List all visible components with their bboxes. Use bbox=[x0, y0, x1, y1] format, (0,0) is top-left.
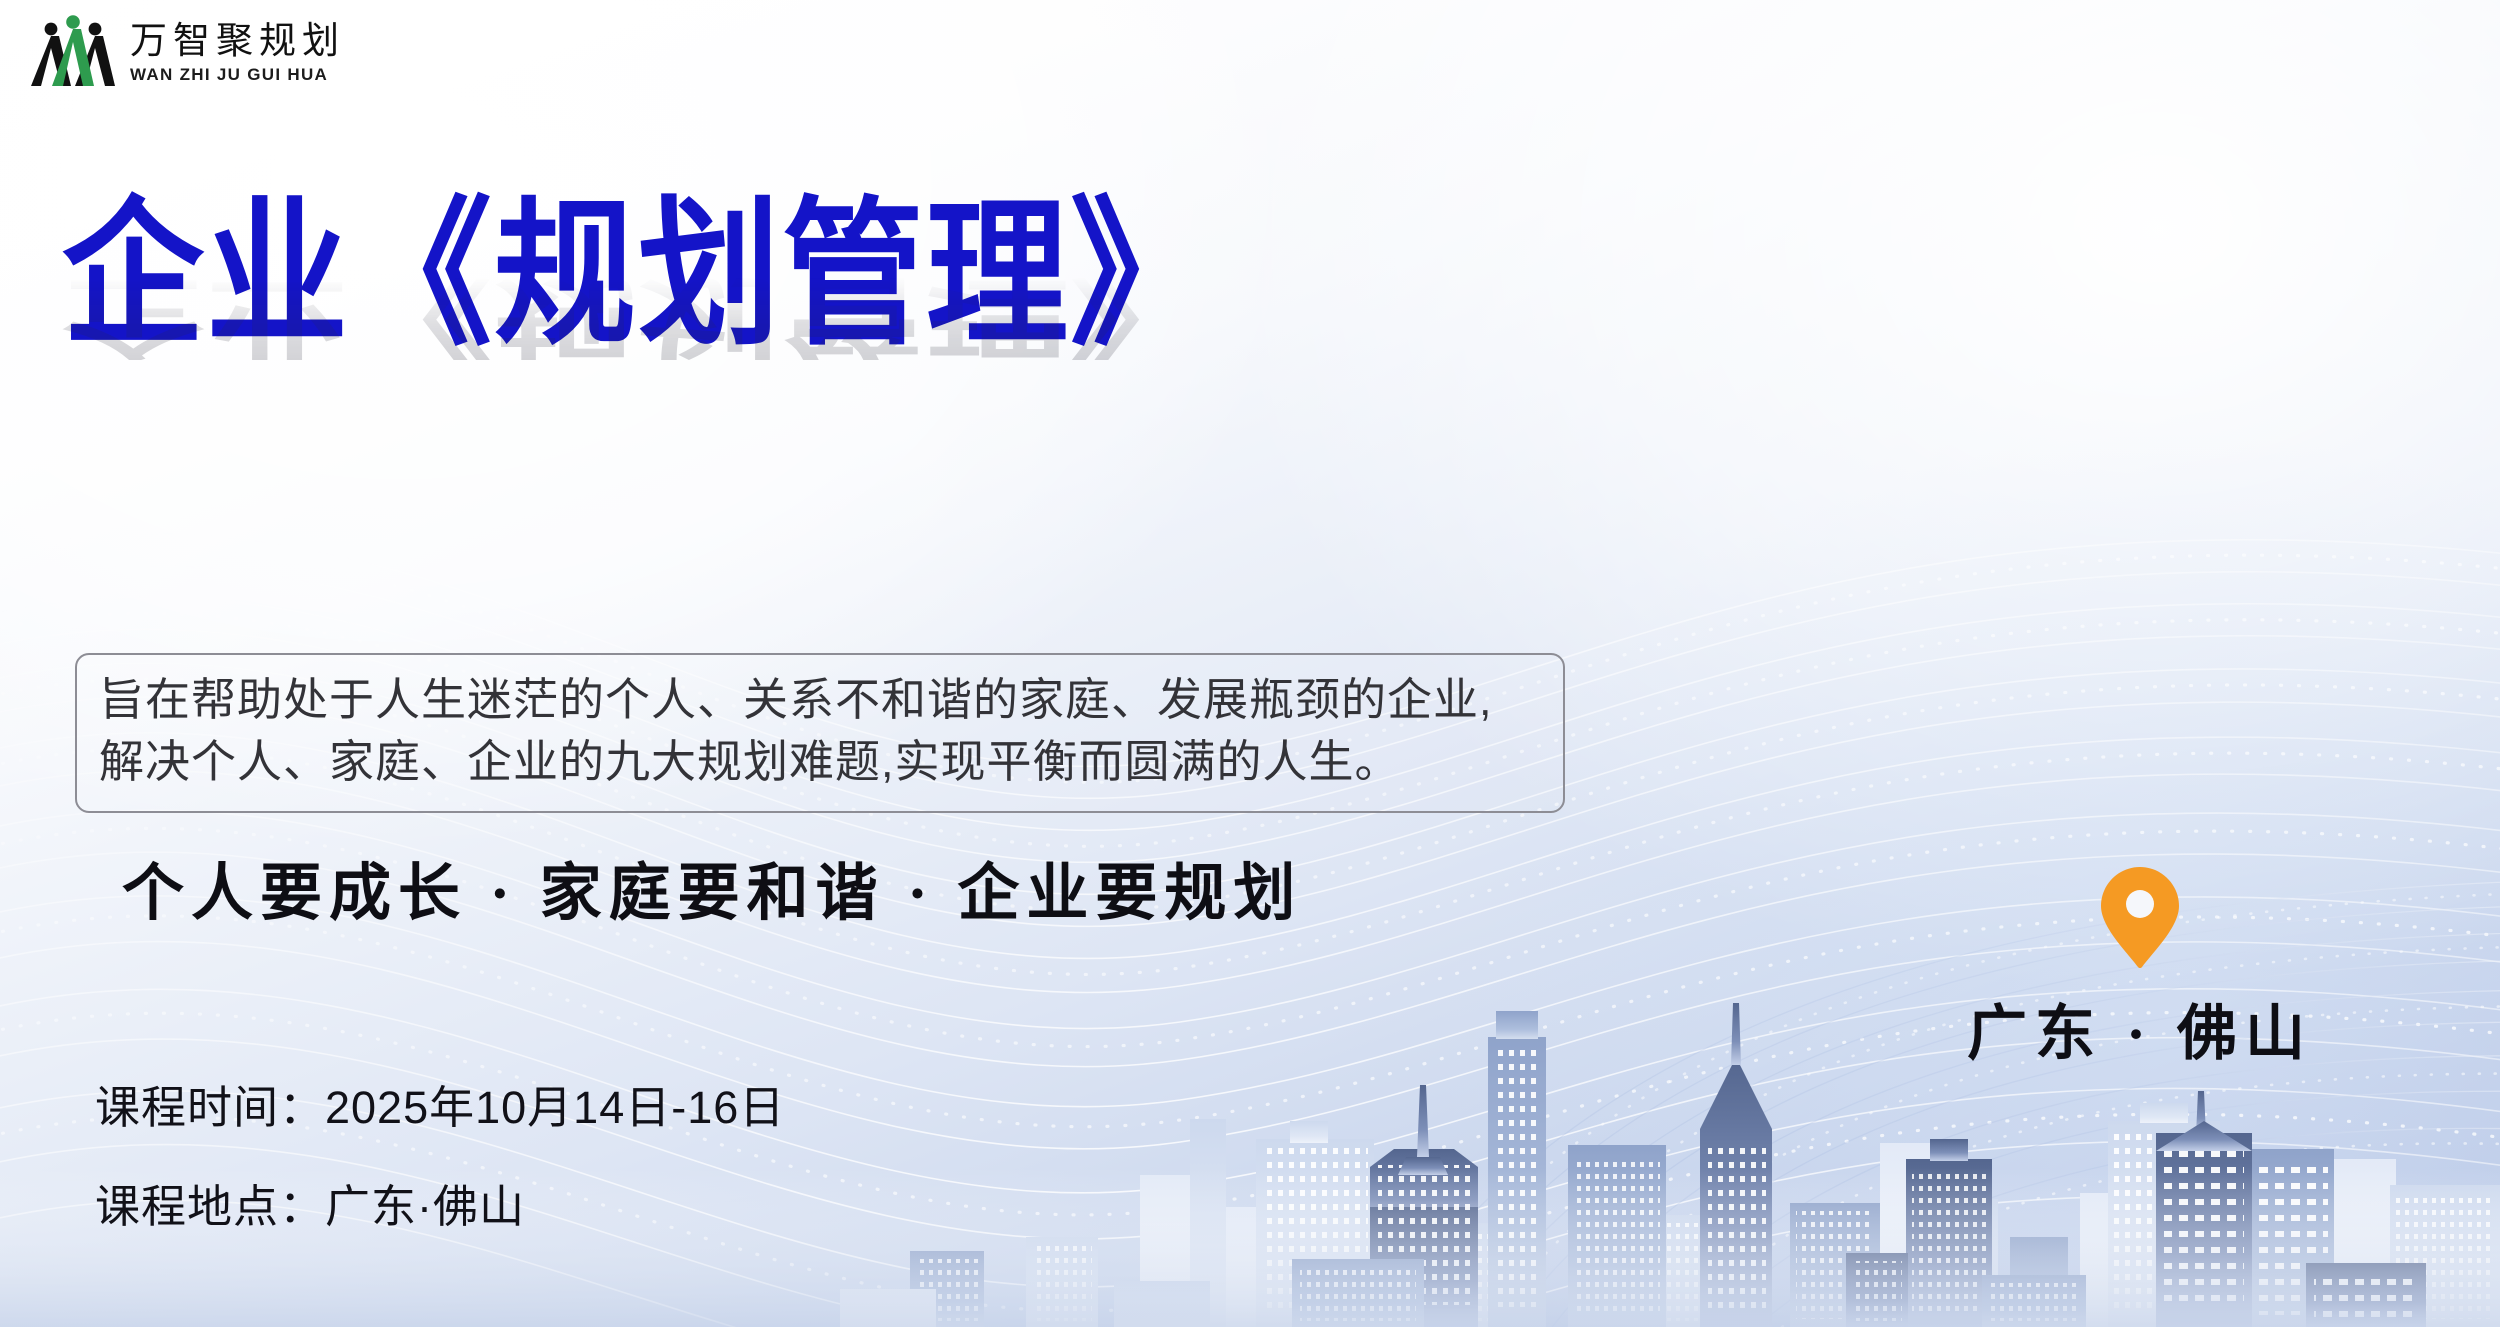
location-label: 广东 · 佛山 bbox=[1960, 985, 2320, 1072]
description-box: 旨在帮助处于人生迷茫的个人、关系不和谐的家庭、发展瓶颈的企业, 解决个人、家庭、… bbox=[75, 653, 1565, 813]
course-time: 课程时间：2025年10月14日-16日 bbox=[95, 1071, 785, 1136]
brand-name-cn: 万智聚规划 bbox=[130, 23, 345, 60]
brand-name-pinyin: WAN ZHI JU GUI HUA bbox=[130, 66, 345, 83]
description-line-2: 解决个人、家庭、企业的九大规划难题,实现平衡而圆满的人生。 bbox=[99, 731, 1541, 793]
page-title-reflection: 企业《规划管理》 bbox=[62, 272, 1214, 360]
slogan-text: 个人要成长 · 家庭要和谐 · 企业要规划 bbox=[122, 842, 1302, 932]
course-info: 课程时间：2025年10月14日-16日 课程地点：广东·佛山 bbox=[95, 1071, 785, 1235]
promo-banner: 万智聚规划 WAN ZHI JU GUI HUA 企业《规划管理》 企业《规划管… bbox=[0, 0, 2500, 1327]
background-glow-right bbox=[1200, 0, 2500, 1000]
course-place: 课程地点：广东·佛山 bbox=[95, 1170, 785, 1235]
map-pin-icon bbox=[2100, 865, 2180, 969]
hero-title-block: 企业《规划管理》 企业《规划管理》 bbox=[62, 196, 1122, 496]
brand-logo: 万智聚规划 WAN ZHI JU GUI HUA bbox=[30, 14, 345, 92]
description-line-1: 旨在帮助处于人生迷茫的个人、关系不和谐的家庭、发展瓶颈的企业, bbox=[99, 669, 1541, 731]
three-people-m-logo-icon bbox=[30, 14, 116, 92]
location-badge: 广东 · 佛山 bbox=[1960, 865, 2320, 1072]
